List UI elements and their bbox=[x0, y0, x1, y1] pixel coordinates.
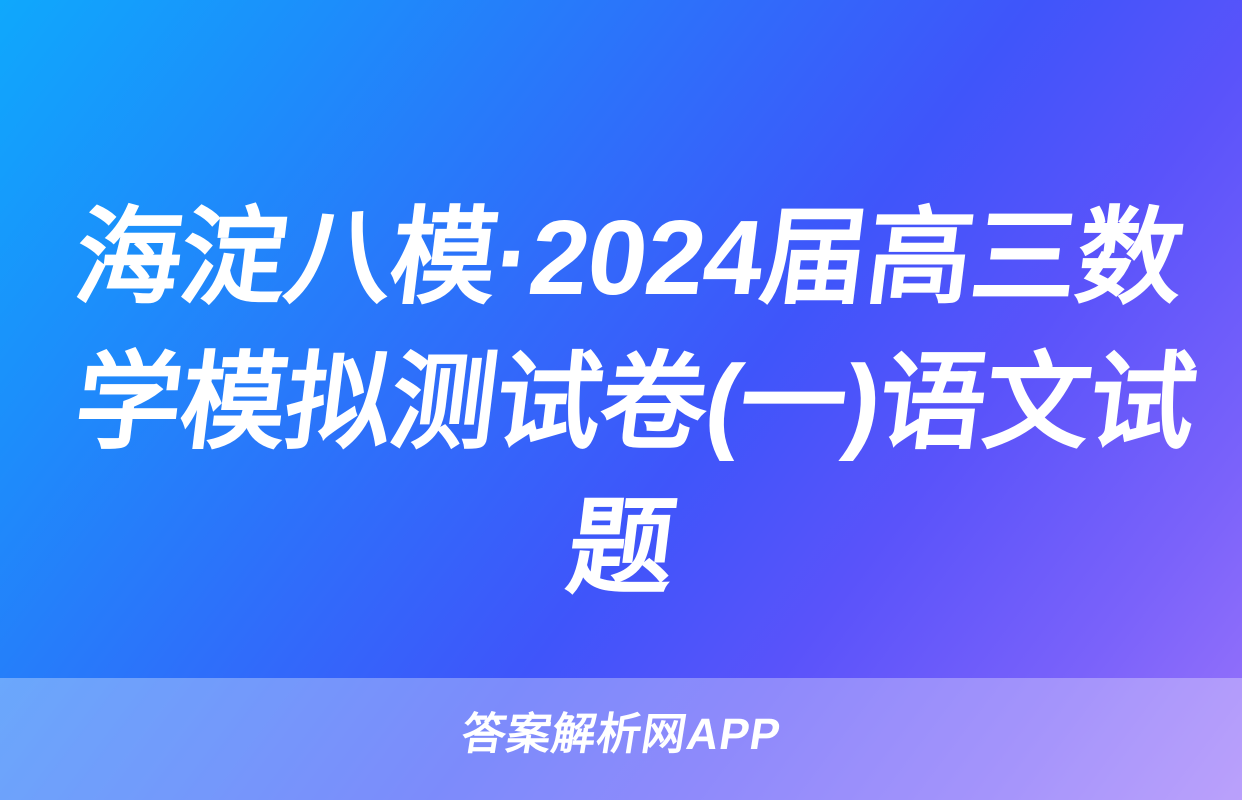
page-title: 海淀八模·2024届高三数 学模拟测试卷(一)语文试 题 bbox=[76, 186, 1166, 621]
exam-cover-poster: 海淀八模·2024届高三数 学模拟测试卷(一)语文试 题 答案解析网APP bbox=[0, 0, 1242, 800]
title-line-1: 海淀八模·2024届高三数 bbox=[67, 186, 1175, 331]
title-line-3: 题 bbox=[67, 476, 1175, 621]
watermark-label: 答案解析网APP bbox=[457, 708, 784, 762]
title-line-2: 学模拟测试卷(一)语文试 bbox=[67, 331, 1175, 476]
watermark: 答案解析网APP bbox=[0, 708, 1242, 762]
